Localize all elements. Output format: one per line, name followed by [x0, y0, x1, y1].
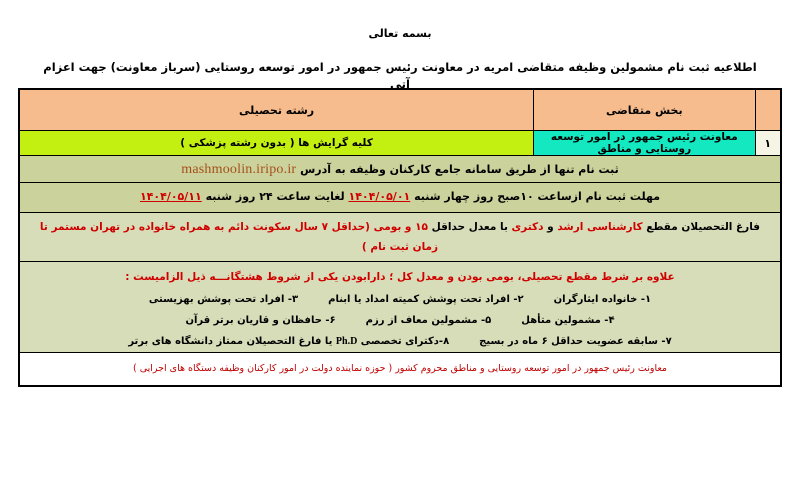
- notice-table: بخش متقاضی رشته تحصیلی ۱ معاونت رئیس جمه…: [18, 88, 782, 387]
- condition-item-7: ۷- سابقه عضویت حداقل ۶ ماه در بسیج: [479, 334, 672, 349]
- condition-item-6: ۶- حافظان و قاریان برتر قرآن: [185, 313, 335, 328]
- footer-text: معاونت رئیس جمهور در امور توسعه روستایی …: [20, 353, 780, 385]
- page-title: اطلاعیه ثبت نام مشمولین وظیفه متقاضی امر…: [0, 42, 800, 93]
- registration-note-cell: ثبت نام تنها از طریق سامانه جامع کارکنان…: [19, 156, 781, 183]
- degree-seg-3: و: [547, 221, 554, 233]
- row-field: کلیه گرایش ها ( بدون رشته پزشکی ): [19, 131, 534, 156]
- degree-seg-2: کارشناسی ارشد: [557, 221, 642, 233]
- conditions-row: علاوه بر شرط مقطع تحصیلی، بومی بودن و مع…: [19, 262, 781, 353]
- condition-item-8: ۸-دکترای تخصصی Ph.D یا فارغ التحصیلان مم…: [128, 334, 449, 349]
- condition-item-8-phd: Ph.D: [336, 334, 357, 349]
- footer-cell: معاونت رئیس جمهور در امور توسعه روستایی …: [19, 353, 781, 387]
- conditions-line-3: ۷- سابقه عضویت حداقل ۶ ماه در بسیج ۸-دکت…: [20, 331, 780, 352]
- deadline-start-date: ۱۴۰۴/۰۵/۰۱: [349, 190, 411, 203]
- row-sector: معاونت رئیس جمهور در امور توسعه روستایی …: [534, 131, 755, 156]
- conditions-line-2: ۴- مشمولین متأهل ۵- مشمولین معاف از رزم …: [20, 310, 780, 331]
- degree-seg-4: دکتری: [512, 221, 544, 233]
- deadline-cell: مهلت ثبت نام ازساعت ۱۰صبح روز چهار شنبه …: [19, 183, 781, 213]
- deadline-part-1: مهلت ثبت نام ازساعت ۱۰صبح روز چهار شنبه: [414, 190, 660, 203]
- registration-note-prefix: ثبت نام تنها از طریق سامانه جامع کارکنان…: [300, 163, 619, 176]
- degree-requirements-cell: فارغ التحصیلان مقطع کارشناسی ارشد و دکتر…: [19, 213, 781, 262]
- conditions-cell: علاوه بر شرط مقطع تحصیلی، بومی بودن و مع…: [19, 262, 781, 353]
- degree-seg-5: با معدل حداقل: [432, 221, 508, 233]
- degree-seg-7: و بومی: [374, 221, 412, 233]
- condition-item-8-suffix: یا فارغ التحصیلان ممتاز دانشگاه های برتر: [128, 336, 332, 347]
- registration-note-text: ثبت نام تنها از طریق سامانه جامع کارکنان…: [20, 156, 780, 182]
- registration-note-row: ثبت نام تنها از طریق سامانه جامع کارکنان…: [19, 156, 781, 183]
- notice-page: بسمه تعالی اطلاعیه ثبت نام مشمولین وظیفه…: [0, 0, 800, 479]
- degree-requirements-text: فارغ التحصیلان مقطع کارشناسی ارشد و دکتر…: [20, 213, 780, 261]
- degree-seg-1: فارغ التحصیلان مقطع: [646, 221, 760, 233]
- header-cell-number: [755, 89, 781, 131]
- condition-item-8-prefix: ۸-دکترای تخصصی: [361, 336, 449, 347]
- conditions-line-1: ۱- خانواده ایثارگران ۲- افراد تحت پوشش ک…: [20, 289, 780, 310]
- condition-item-2: ۲- افراد تحت پوشش کمیته امداد یا ابنام: [328, 292, 524, 307]
- deadline-part-2: لغایت ساعت ۲۴ روز شنبه: [206, 190, 345, 203]
- degree-requirements-row: فارغ التحصیلان مقطع کارشناسی ارشد و دکتر…: [19, 213, 781, 262]
- deadline-end-date: ۱۴۰۴/۰۵/۱۱: [140, 190, 202, 203]
- condition-item-5: ۵- مشمولین معاف از رزم: [366, 313, 492, 328]
- registration-url[interactable]: mashmoolin.iripo.ir: [181, 162, 296, 177]
- conditions-header: علاوه بر شرط مقطع تحصیلی، بومی بودن و مع…: [20, 262, 780, 289]
- deadline-row: مهلت ثبت نام ازساعت ۱۰صبح روز چهار شنبه …: [19, 183, 781, 213]
- table-row: ۱ معاونت رئیس جمهور در امور توسعه روستای…: [19, 131, 781, 156]
- table-header-row: بخش متقاضی رشته تحصیلی: [19, 89, 781, 131]
- condition-item-3: ۳- افراد تحت پوشش بهزیستی: [149, 292, 298, 307]
- degree-seg-6: ۱۵: [415, 221, 428, 233]
- basmala-heading: بسمه تعالی: [0, 0, 800, 42]
- row-number: ۱: [755, 131, 781, 156]
- footer-row: معاونت رئیس جمهور در امور توسعه روستایی …: [19, 353, 781, 387]
- condition-item-1: ۱- خانواده ایثارگران: [554, 292, 651, 307]
- header-cell-sector: بخش متقاضی: [534, 89, 755, 131]
- deadline-text: مهلت ثبت نام ازساعت ۱۰صبح روز چهار شنبه …: [20, 183, 780, 212]
- condition-item-4: ۴- مشمولین متأهل: [521, 313, 614, 328]
- header-cell-field: رشته تحصیلی: [19, 89, 534, 131]
